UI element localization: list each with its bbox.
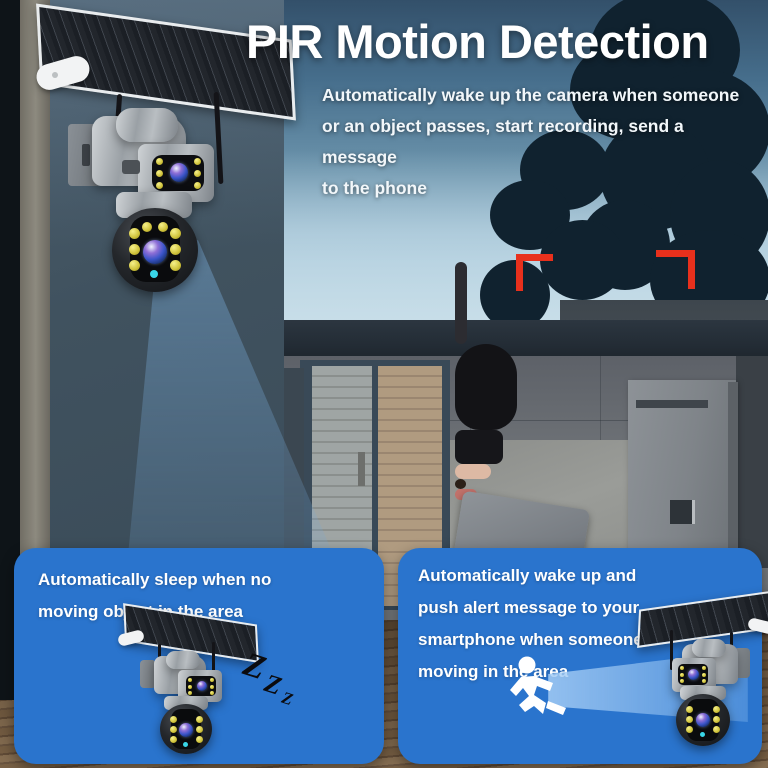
subtitle-line: to the phone <box>322 173 752 204</box>
page-title: PIR Motion Detection <box>246 14 766 69</box>
panel-mount-bracket <box>117 629 145 647</box>
detection-bracket-right-icon <box>656 250 695 289</box>
solar-camera-small-wake <box>626 596 768 756</box>
dome-camera-lens <box>143 240 167 264</box>
running-person-icon <box>510 656 570 718</box>
upper-camera-lens <box>170 163 188 182</box>
card-text-line: Automatically wake up and <box>418 560 668 592</box>
dark-wall-right <box>736 356 768 568</box>
card-text-line: Automatically sleep when no <box>38 564 328 596</box>
product-marketing-image: PIR Motion Detection Automatically wake … <box>0 0 768 768</box>
subtitle-line: Automatically wake up the camera when so… <box>322 80 752 111</box>
intruder-figure <box>455 262 665 592</box>
balaclava-icon <box>455 344 517 430</box>
utility-cabinet-vent <box>670 500 695 524</box>
detection-bracket-left-icon <box>516 254 553 291</box>
subtitle-line: or an object passes, start recording, se… <box>322 111 752 173</box>
feature-card-sleep: Automatically sleep when no moving objec… <box>14 548 384 764</box>
utility-cabinet-edge <box>728 382 738 570</box>
feature-card-wake: Automatically wake up and push alert mes… <box>398 548 762 764</box>
page-subtitle: Automatically wake up the camera when so… <box>322 80 752 204</box>
solar-camera-small-sleep <box>110 614 290 754</box>
camera-upper-head <box>116 108 178 142</box>
status-indicator-led <box>150 270 158 278</box>
door-handle <box>358 452 365 486</box>
